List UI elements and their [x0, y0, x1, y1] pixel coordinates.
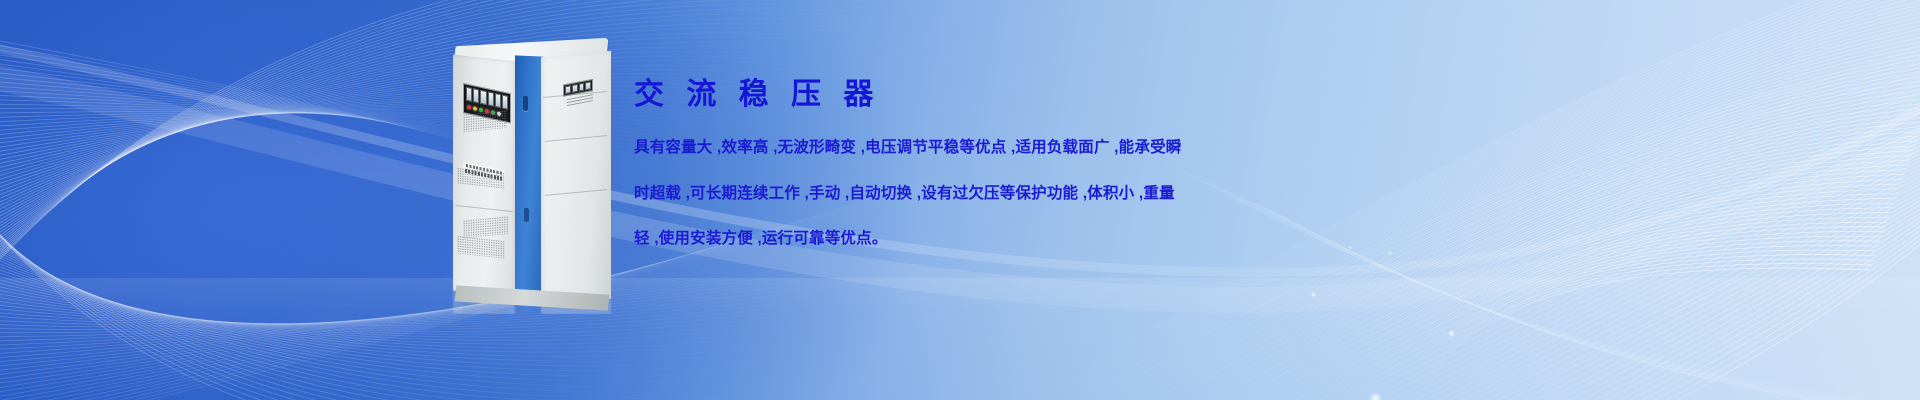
indicator-lamp-red: [467, 105, 471, 110]
panel-meter: [473, 88, 479, 103]
cabinet-blue-door: [515, 55, 543, 300]
door-lock-icon: [524, 208, 529, 222]
panel-meter: [488, 91, 494, 106]
glow-dot-3: [1311, 292, 1316, 297]
panel-meter: [495, 93, 501, 108]
glow-dot-2: [1448, 330, 1455, 337]
cabinet-side-panel: [541, 51, 611, 306]
indicator-lamp-yellow: [473, 106, 477, 111]
product-image-voltage-stabilizer: [447, 42, 622, 314]
description-line-1: 具有容量大 ,效率高 ,无波形畸变 ,电压调节平稳等优点 ,适用负载面广 ,能承…: [634, 133, 1174, 163]
description-line-2: 时超载 ,可长期连续工作 ,手动 ,自动切换 ,设有过欠压等保护功能 ,体积小 …: [634, 179, 1174, 209]
side-label-text: [567, 94, 593, 106]
glow-dot-4: [1388, 251, 1392, 255]
product-banner: 交 流 稳 压 器 具有容量大 ,效率高 ,无波形畸变 ,电压调节平稳等优点 ,…: [0, 0, 1920, 400]
panel-meter: [480, 90, 486, 105]
door-handle-icon: [523, 96, 528, 111]
panel-meter: [502, 94, 508, 109]
page-title: 交 流 稳 压 器: [634, 78, 1174, 111]
glossy-floor: [0, 278, 1920, 400]
panel-meter: [466, 87, 472, 102]
banner-copy: 交 流 稳 压 器 具有容量大 ,效率高 ,无波形畸变 ,电压调节平稳等优点 ,…: [634, 78, 1174, 270]
glow-dot-1: [1369, 392, 1382, 400]
description-line-3: 轻 ,使用安装方便 ,运行可靠等优点。: [634, 224, 1174, 254]
glow-dot-5: [1349, 246, 1352, 249]
